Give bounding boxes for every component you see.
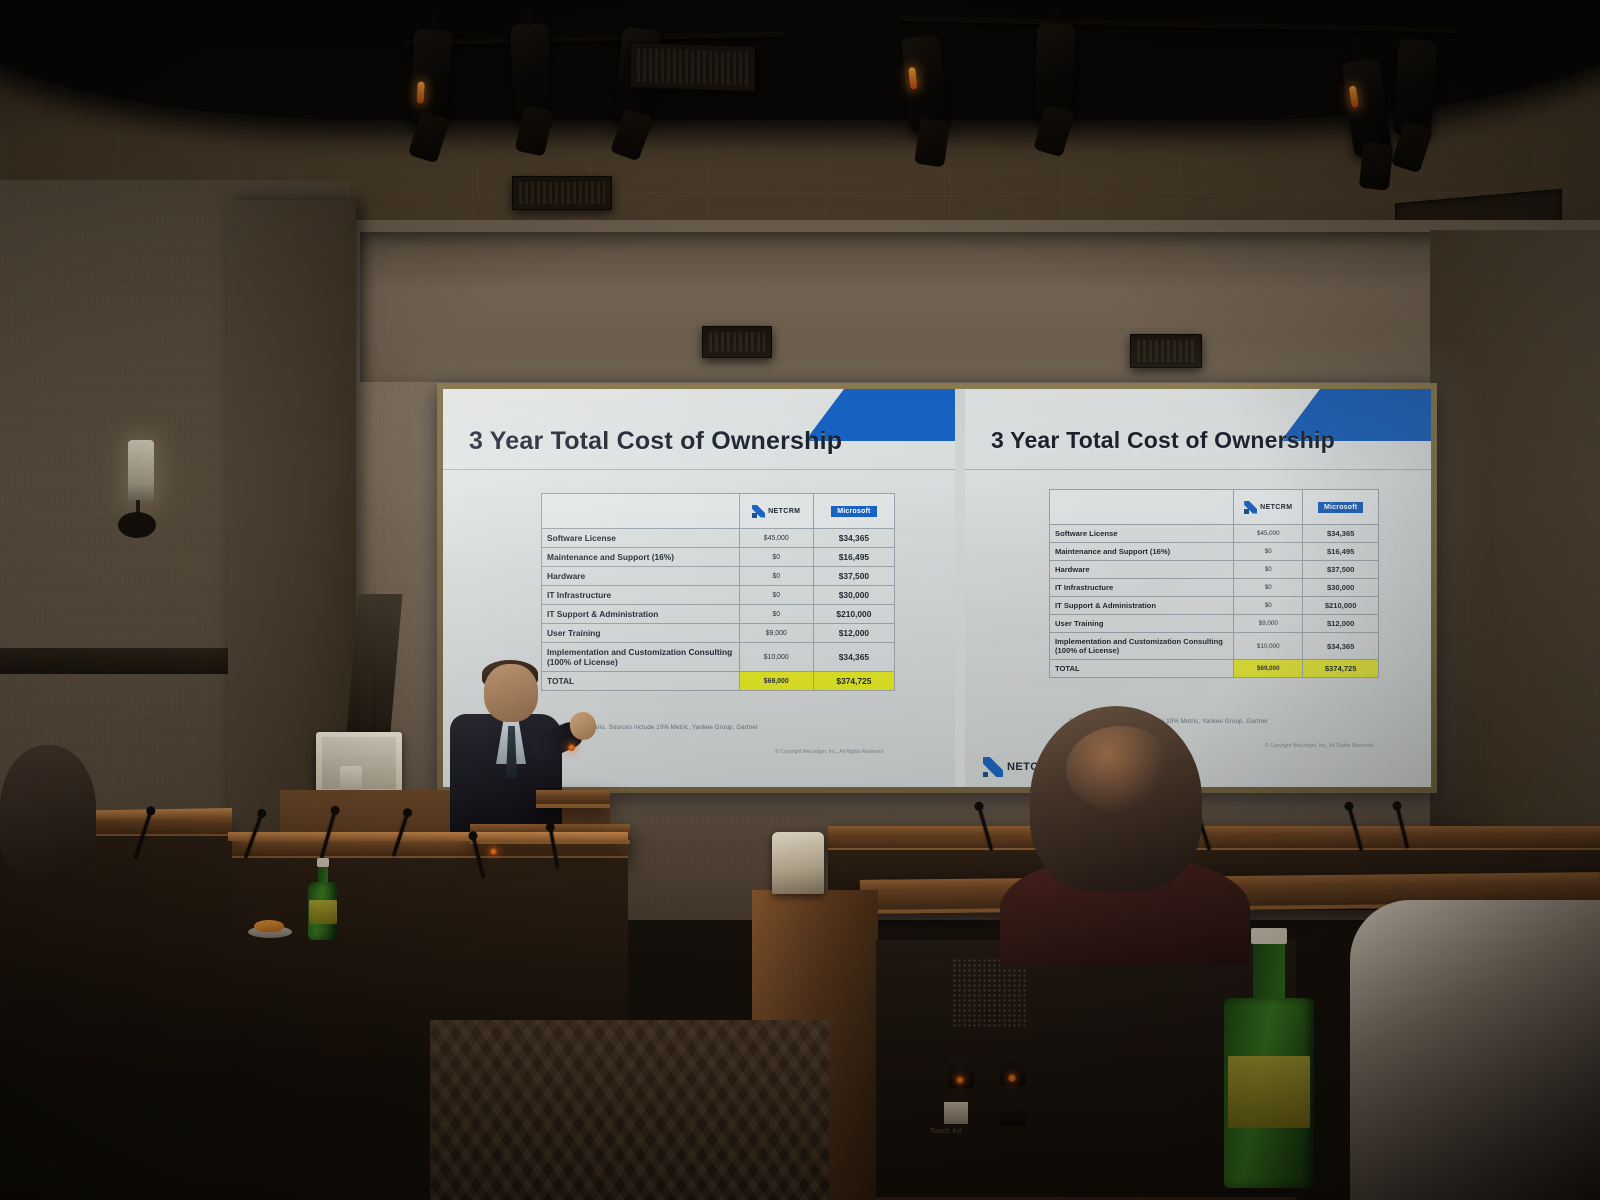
table-row: Hardware $0 $37,500 [1050,561,1379,579]
row-netcrm-value: $0 [739,548,813,567]
table-header-row: NETCRM Microsoft [542,494,895,529]
row-netcrm-value: $0 [739,586,813,605]
row-netcrm-value: $0 [1234,579,1303,597]
table-total-row: TOTAL $69,000 $374,725 [1050,660,1379,678]
total-microsoft-value: $374,725 [1303,660,1379,678]
row-netcrm-value: $10,000 [1234,633,1303,660]
audience-person-right [1350,900,1600,1200]
header-netcrm-cell: NETCRM [739,494,813,529]
netcrm-wordmark: NETCRM [768,508,800,515]
spotlight-7 [1393,39,1438,137]
slide-title: 3 Year Total Cost of Ownership [991,427,1335,454]
total-label: TOTAL [1050,660,1234,678]
desk-row-front-right [828,826,1600,852]
row-microsoft-value: $12,000 [1303,615,1379,633]
row-item-label: IT Infrastructure [542,586,740,605]
wall-speaker-right [1130,334,1202,368]
tco-table-body: Software License $45,000 $34,365 Mainten… [542,529,895,691]
row-netcrm-value: $45,000 [739,529,813,548]
table-row: Implementation and Customization Consult… [542,643,895,672]
row-item-label: Hardware [542,567,740,586]
sconce-base [118,512,156,538]
av-knob-left [948,1058,974,1088]
row-item-label: Maintenance and Support (16%) [542,548,740,567]
ceiling-speaker-panel [512,176,612,210]
netcrm-logo-icon [752,505,765,518]
row-netcrm-value: $0 [1234,597,1303,615]
table-row: Software License $45,000 $34,365 [542,529,895,548]
bottle-cap [1251,928,1287,944]
spotlight-1 [410,29,453,127]
table-row: IT Infrastructure $0 $30,000 [1050,579,1379,597]
right-wall [1430,230,1600,910]
total-netcrm-value: $69,000 [739,672,813,691]
row-microsoft-value: $34,365 [1303,633,1379,660]
av-speaker-grille [952,958,1027,1028]
row-item-label: IT Support & Administration [542,605,740,624]
slide-title: 3 Year Total Cost of Ownership [469,427,842,456]
row-item-label: Software License [542,529,740,548]
slide-title-rule [965,469,1431,470]
row-microsoft-value: $34,365 [813,529,894,548]
total-netcrm-value: $69,000 [1234,660,1303,678]
row-item-label: User Training [542,624,740,643]
tco-table-header: NETCRM Microsoft [542,494,895,529]
row-microsoft-value: $210,000 [1303,597,1379,615]
row-item-label: User Training [1050,615,1234,633]
slide-title-rule [443,469,955,470]
table-row: Maintenance and Support (16%) $0 $16,495 [542,548,895,567]
mic-status-led [568,744,575,751]
netcrm-logo-icon [1244,501,1257,514]
table-row: User Training $9,000 $12,000 [1050,615,1379,633]
slide-copyright: © Copyright NetLedger, Inc., All Rights … [775,749,883,755]
mic-status-led [490,848,497,855]
row-item-label: Implementation and Customization Consult… [1050,633,1234,660]
audience-head-highlight [1066,726,1176,812]
row-netcrm-value: $0 [1234,561,1303,579]
av-connector-plate [944,1102,968,1124]
desk-row-podium-edge [536,790,610,808]
tco-table: NETCRM Microsoft Software License $45,00… [1049,489,1379,678]
table-row: Hardware $0 $37,500 [542,567,895,586]
microsoft-logo-badge: Microsoft [1318,502,1363,513]
ceiling-projector [630,42,756,92]
table-row: Implementation and Customization Consult… [1050,633,1379,660]
wall-speaker-left [702,326,772,358]
wall-soffit [360,232,1450,382]
table-row: IT Infrastructure $0 $30,000 [542,586,895,605]
tco-table: NETCRM Microsoft Software License $45,00… [541,493,895,691]
table-row: User Training $9,000 $12,000 [542,624,895,643]
row-microsoft-value: $34,365 [813,643,894,672]
row-item-label: Maintenance and Support (16%) [1050,543,1234,561]
row-microsoft-value: $16,495 [1303,543,1379,561]
bottle-cap [317,858,329,867]
table-row: IT Support & Administration $0 $210,000 [1050,597,1379,615]
presentation-room-photo: 3 Year Total Cost of Ownership NETCRM [0,0,1600,1200]
table-total-row: TOTAL $69,000 $374,725 [542,672,895,691]
desk-edge-stage-left [228,832,628,841]
row-microsoft-value: $30,000 [1303,579,1379,597]
carpet [430,1020,830,1200]
slide-copyright: © Copyright NetLedger, Inc., All Rights … [1265,743,1373,749]
wall-sconce [128,440,154,502]
beverage-bottle-left [308,864,338,940]
row-item-label: Software License [1050,525,1234,543]
row-microsoft-value: $34,365 [1303,525,1379,543]
audience-person-left [0,745,96,875]
row-netcrm-value: $9,000 [739,624,813,643]
row-item-label: IT Infrastructure [1050,579,1234,597]
slide-right: 3 Year Total Cost of Ownership NETCRM [965,389,1431,787]
row-microsoft-value: $16,495 [813,548,894,567]
header-netcrm-cell: NETCRM [1234,490,1303,525]
netcrm-logo-icon [983,757,1003,777]
row-item-label: IT Support & Administration [1050,597,1234,615]
header-microsoft-cell: Microsoft [1303,490,1379,525]
total-microsoft-value: $374,725 [813,672,894,691]
table-row: IT Support & Administration $0 $210,000 [542,605,895,624]
row-netcrm-value: $45,000 [1234,525,1303,543]
av-knob-right [1000,1056,1026,1086]
header-blank-cell [1050,490,1234,525]
presenter-head [484,664,538,722]
row-microsoft-value: $37,500 [1303,561,1379,579]
table-row: Software License $45,000 $34,365 [1050,525,1379,543]
netcrm-wordmark: NETCRM [1260,504,1292,511]
row-microsoft-value: $30,000 [813,586,894,605]
spotlight-5 [1034,23,1075,120]
bench-post-cap [772,832,824,894]
row-microsoft-value: $12,000 [813,624,894,643]
row-netcrm-value: $0 [739,567,813,586]
header-blank-cell [542,494,740,529]
beverage-bottle-right [1224,938,1314,1188]
row-netcrm-value: $10,000 [739,643,813,672]
row-microsoft-value: $210,000 [813,605,894,624]
table-header-row: NETCRM Microsoft [1050,490,1379,525]
snack-food [254,920,284,932]
row-item-label: Hardware [1050,561,1234,579]
header-microsoft-cell: Microsoft [813,494,894,529]
tco-table-header: NETCRM Microsoft [1050,490,1379,525]
table-row: Maintenance and Support (16%) $0 $16,495 [1050,543,1379,561]
av-connector-plate-dark [1000,1104,1026,1126]
row-microsoft-value: $37,500 [813,567,894,586]
row-netcrm-value: $0 [1234,543,1303,561]
row-netcrm-value: $0 [739,605,813,624]
av-rack-label: Touch Kit [930,1128,962,1135]
microsoft-logo-badge: Microsoft [831,506,876,517]
row-netcrm-value: $9,000 [1234,615,1303,633]
tco-table-body: Software License $45,000 $34,365 Mainten… [1050,525,1379,678]
